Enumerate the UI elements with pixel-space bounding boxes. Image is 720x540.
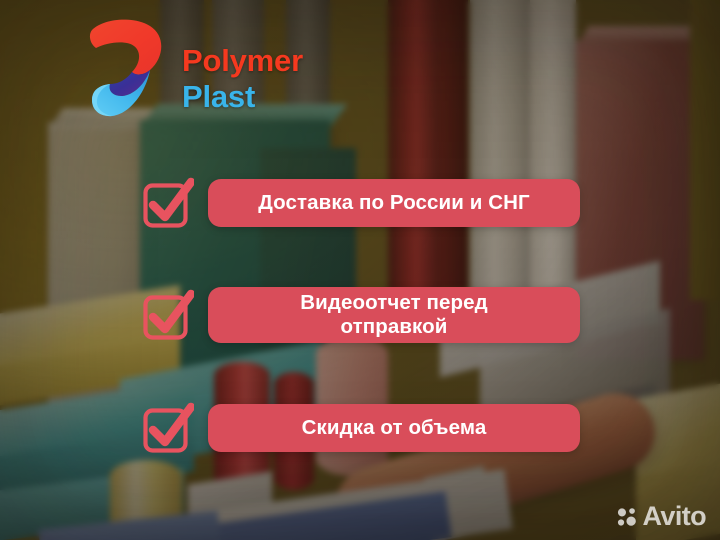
avito-watermark: Avito <box>616 503 707 530</box>
feature-pill-2: Видеоотчет перед отправкой <box>208 287 580 343</box>
checkbox-checked-icon <box>142 289 194 341</box>
feature-label-1-line-1: Доставка по России и СНГ <box>258 191 530 215</box>
feature-item-2: Видеоотчет перед отправкой <box>142 287 580 343</box>
avito-wordmark: Avito <box>643 503 707 530</box>
feature-pill-3: Скидка от объема <box>208 404 580 452</box>
feature-label-2-line-1: Видеоотчет перед <box>300 291 487 315</box>
feature-item-3: Скидка от объема <box>142 402 580 454</box>
promo-banner: Polymer Plast Доставка по России и СНГ В… <box>0 0 720 540</box>
feature-item-1: Доставка по России и СНГ <box>142 177 580 229</box>
feature-label-2-line-2: отправкой <box>300 315 487 339</box>
feature-list: Доставка по России и СНГ Видеоотчет пере… <box>0 0 720 540</box>
checkbox-checked-icon <box>142 402 194 454</box>
feature-pill-1: Доставка по России и СНГ <box>208 179 580 227</box>
avito-dots-icon <box>616 506 638 528</box>
checkbox-checked-icon <box>142 177 194 229</box>
feature-label-3-line-1: Скидка от объема <box>302 416 487 440</box>
